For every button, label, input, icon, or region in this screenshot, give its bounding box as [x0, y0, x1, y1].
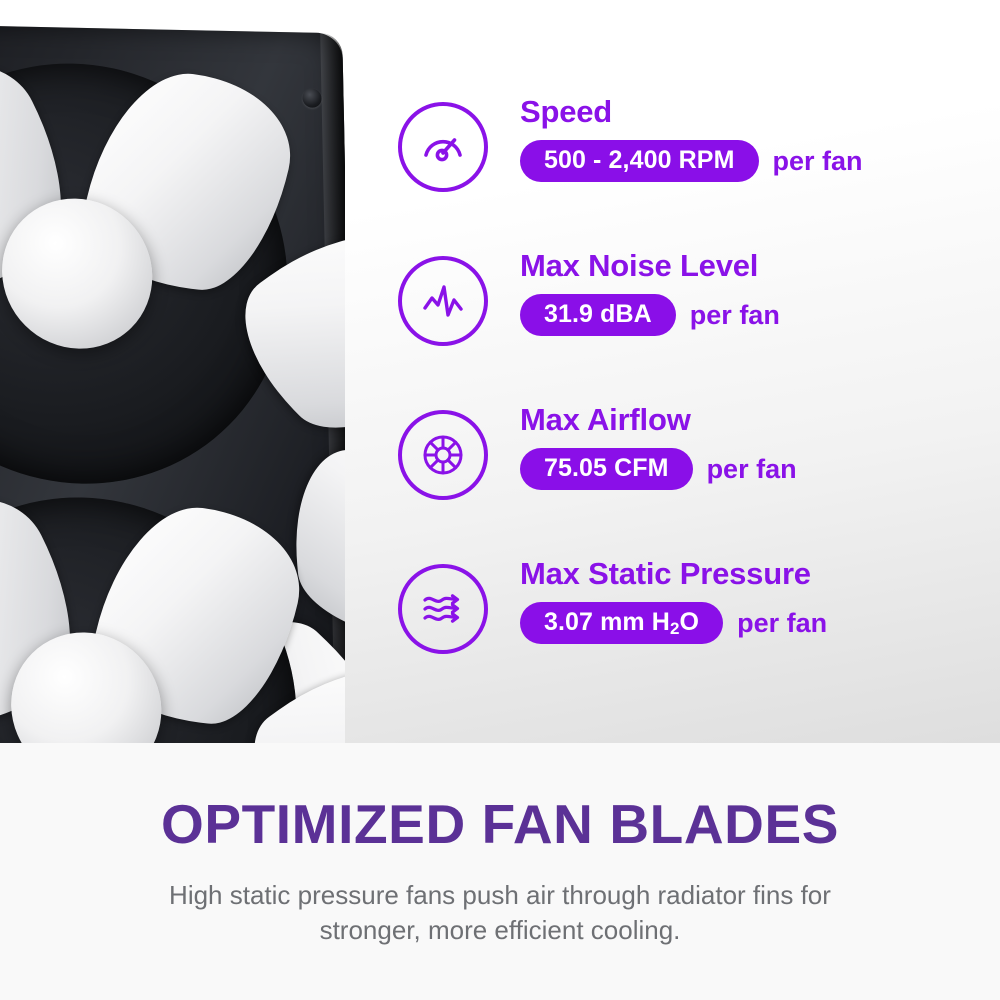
spec-title: Max Airflow [520, 404, 797, 435]
spec-text-noise: Max Noise Level 31.9 dBA per fan [520, 250, 780, 336]
spec-value-badge: 3.07 mm H2O [520, 602, 723, 644]
spec-row-speed: Speed 500 - 2,400 RPM per fan [398, 96, 978, 250]
spec-value-badge: 500 - 2,400 RPM [520, 140, 759, 182]
caption-panel: OPTIMIZED FAN BLADES High static pressur… [0, 743, 1000, 1000]
subcopy: High static pressure fans push air throu… [0, 878, 1000, 948]
infographic-page: Speed 500 - 2,400 RPM per fan Max Noise … [0, 0, 1000, 1000]
subcopy-line-1: High static pressure fans push air throu… [0, 878, 1000, 913]
spec-suffix: per fan [690, 300, 780, 331]
spec-suffix: per fan [737, 608, 827, 639]
fan-unit-upper [0, 59, 292, 488]
subcopy-line-2: stronger, more efficient cooling. [0, 913, 1000, 948]
impeller-icon [398, 410, 488, 500]
spec-value-line: 31.9 dBA per fan [520, 294, 780, 336]
spec-text-static-pressure: Max Static Pressure 3.07 mm H2O per fan [520, 558, 827, 644]
spec-suffix: per fan [707, 454, 797, 485]
spec-title: Max Noise Level [520, 250, 780, 281]
spec-suffix: per fan [773, 146, 863, 177]
waveform-icon [398, 256, 488, 346]
spec-value-subscript: 2 [670, 619, 680, 638]
airflow-arrows-icon [398, 564, 488, 654]
spec-title: Speed [520, 96, 863, 127]
spec-value-badge: 31.9 dBA [520, 294, 676, 336]
top-panel: Speed 500 - 2,400 RPM per fan Max Noise … [0, 0, 1000, 743]
spec-list: Speed 500 - 2,400 RPM per fan Max Noise … [398, 96, 978, 712]
spec-value-line: 3.07 mm H2O per fan [520, 602, 827, 644]
spec-value-line: 75.05 CFM per fan [520, 448, 797, 490]
spec-value-badge: 75.05 CFM [520, 448, 693, 490]
spec-value-text: 3.07 mm H [544, 608, 670, 636]
spec-row-static-pressure: Max Static Pressure 3.07 mm H2O per fan [398, 558, 978, 712]
product-photo [0, 0, 345, 743]
headline: OPTIMIZED FAN BLADES [0, 797, 1000, 852]
spec-text-airflow: Max Airflow 75.05 CFM per fan [520, 404, 797, 490]
spec-value-unit: O [680, 608, 700, 636]
fan-frame [0, 23, 345, 743]
frame-screw-hole [302, 88, 321, 107]
spec-row-airflow: Max Airflow 75.05 CFM per fan [398, 404, 978, 558]
spec-text-speed: Speed 500 - 2,400 RPM per fan [520, 96, 863, 182]
spec-title: Max Static Pressure [520, 558, 827, 589]
spec-row-noise: Max Noise Level 31.9 dBA per fan [398, 250, 978, 404]
speedometer-icon [398, 102, 488, 192]
spec-value-line: 500 - 2,400 RPM per fan [520, 140, 863, 182]
fan-unit-lower [0, 493, 301, 743]
